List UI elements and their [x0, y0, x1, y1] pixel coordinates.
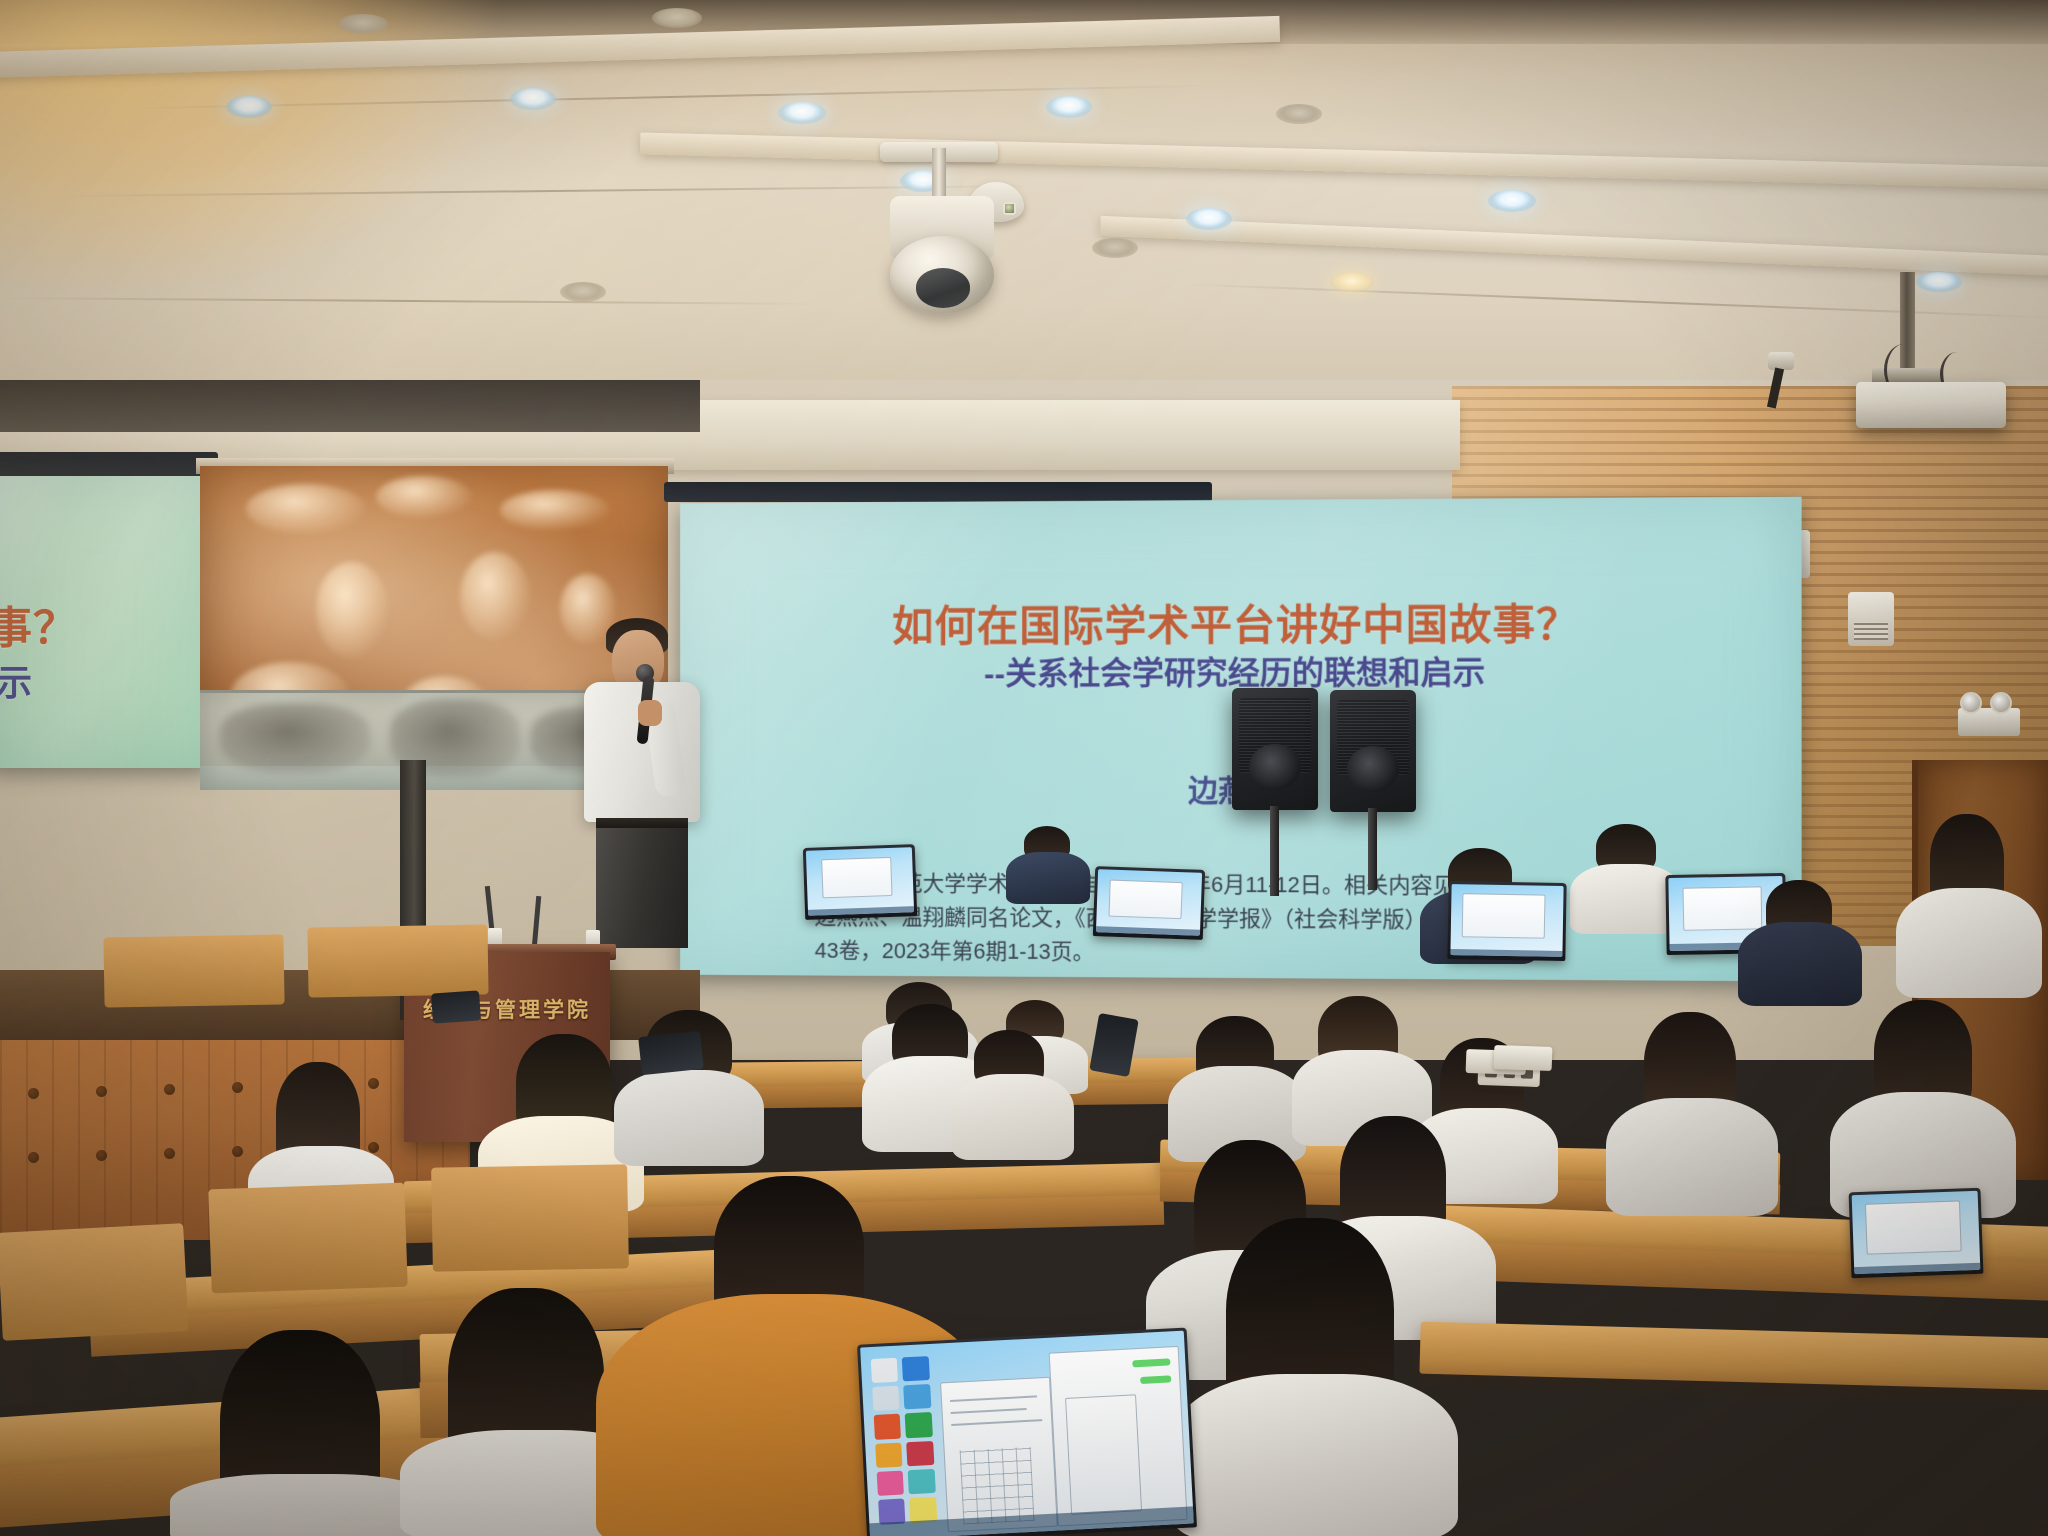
tablet[interactable] [431, 990, 481, 1023]
student-body [1006, 852, 1090, 904]
student-body [1896, 888, 2042, 998]
ceiling-light [226, 96, 272, 118]
student-body [1172, 1374, 1458, 1536]
presenter-hand [638, 700, 662, 726]
desk-divider [431, 1164, 629, 1271]
left-slide-title: 国故事？ [0, 592, 178, 656]
lecture-hall-scene: 安全出口 国故事？ 和启示 2日。相关内容见于 （社会科学版）总 如何在国际学术… [0, 0, 2048, 1536]
ceiling-light [1916, 272, 1962, 292]
laptop[interactable] [1093, 866, 1205, 940]
desk-divider [307, 924, 488, 997]
spreadsheet-grid [960, 1447, 1035, 1525]
laptop[interactable] [1849, 1188, 1984, 1279]
chat-contact-list[interactable] [1065, 1394, 1142, 1514]
pa-speaker-left [1232, 688, 1318, 810]
laptop-window [821, 857, 892, 898]
laptop-taskbar [1854, 1263, 1980, 1275]
slide-title: 如何在国际学术平台讲好中国故事？ [680, 590, 1802, 654]
desk-divider [0, 1223, 189, 1341]
left-screen-case [0, 452, 218, 476]
emergency-lamp [1960, 692, 1982, 714]
slide-body-line-3: 43卷，2023年第6期1-13页。 [815, 934, 1716, 973]
laptop-screen [1852, 1191, 1981, 1274]
laptop-taskbar [808, 906, 914, 916]
ceiling-light [1276, 104, 1322, 124]
desk-divider [208, 1183, 408, 1294]
ceiling-light [510, 88, 556, 110]
ceiling-light [1092, 238, 1138, 258]
student-body [1738, 922, 1862, 1006]
speaker-woofer-icon [1347, 746, 1399, 792]
left-projection-screen: 国故事？ 和启示 2日。相关内容见于 （社会科学版）总 [0, 476, 210, 768]
chat-bubble [1140, 1375, 1171, 1384]
ceiling-beam [1100, 216, 2048, 276]
chat-bubble [1132, 1358, 1171, 1367]
speaker-stand [1270, 806, 1279, 896]
laptop-taskbar [1450, 949, 1562, 957]
ceiling-light [560, 282, 606, 302]
desk-divider [103, 934, 284, 1007]
laptop-screen [806, 847, 914, 916]
laptop-window [1109, 880, 1183, 919]
copper-reflection [460, 552, 530, 640]
laptop-screen [860, 1331, 1194, 1536]
ceiling-light [1046, 96, 1092, 118]
screen-recess-shadow [0, 380, 700, 432]
copper-reflection [246, 484, 366, 534]
main-screen-case [664, 482, 1212, 502]
laptop-screen [1450, 884, 1563, 957]
ceiling-seam [1180, 283, 2048, 319]
tablet[interactable] [638, 1031, 704, 1075]
laptop[interactable] [803, 844, 917, 920]
desktop-icons[interactable] [870, 1356, 937, 1525]
laptop-window [1462, 893, 1546, 938]
ceiling [0, 0, 2048, 430]
projector-icon [1856, 382, 2006, 428]
laptop-window [1682, 887, 1763, 931]
speaker-woofer-icon [1249, 744, 1301, 790]
desk-power-socket[interactable] [1494, 1045, 1553, 1071]
ceiling-light [338, 14, 388, 34]
ceiling-light [1186, 208, 1232, 230]
student-body [1606, 1098, 1778, 1216]
document-editor-window[interactable] [940, 1376, 1058, 1532]
student-body [614, 1070, 764, 1166]
pa-speaker-right [1330, 690, 1416, 812]
ceiling-light [652, 8, 702, 28]
copper-reflection [500, 490, 610, 530]
laptop[interactable] [1447, 881, 1566, 961]
laptop-screen [1096, 869, 1202, 936]
emergency-light-icon [1958, 708, 2020, 736]
ceiling-camera-small [1768, 352, 1794, 370]
ptz-camera-window [916, 268, 970, 308]
speaker-stand [1368, 808, 1377, 890]
laptop-taskbar [1096, 927, 1200, 936]
ceiling-light [1488, 190, 1536, 212]
emergency-lamp [1990, 692, 2012, 714]
air-conditioner-icon [1848, 592, 1894, 646]
ceiling-light [778, 102, 826, 124]
presenter-legs [596, 828, 688, 948]
copper-reflection [376, 476, 472, 518]
chat-app-window[interactable] [1049, 1346, 1188, 1526]
ceiling-seam [0, 297, 820, 305]
laptop-foreground[interactable] [857, 1328, 1197, 1536]
copper-reflection [316, 562, 388, 658]
glass-reflection [220, 703, 370, 773]
desk-row [1419, 1322, 2048, 1391]
ceiling-beam [640, 133, 2048, 190]
laptop-window [1865, 1201, 1962, 1255]
camera-ir-icon [1003, 202, 1016, 215]
student-body [952, 1074, 1074, 1160]
left-slide-subtitle: 和启示 [0, 654, 204, 706]
ceiling-light [1330, 272, 1374, 292]
